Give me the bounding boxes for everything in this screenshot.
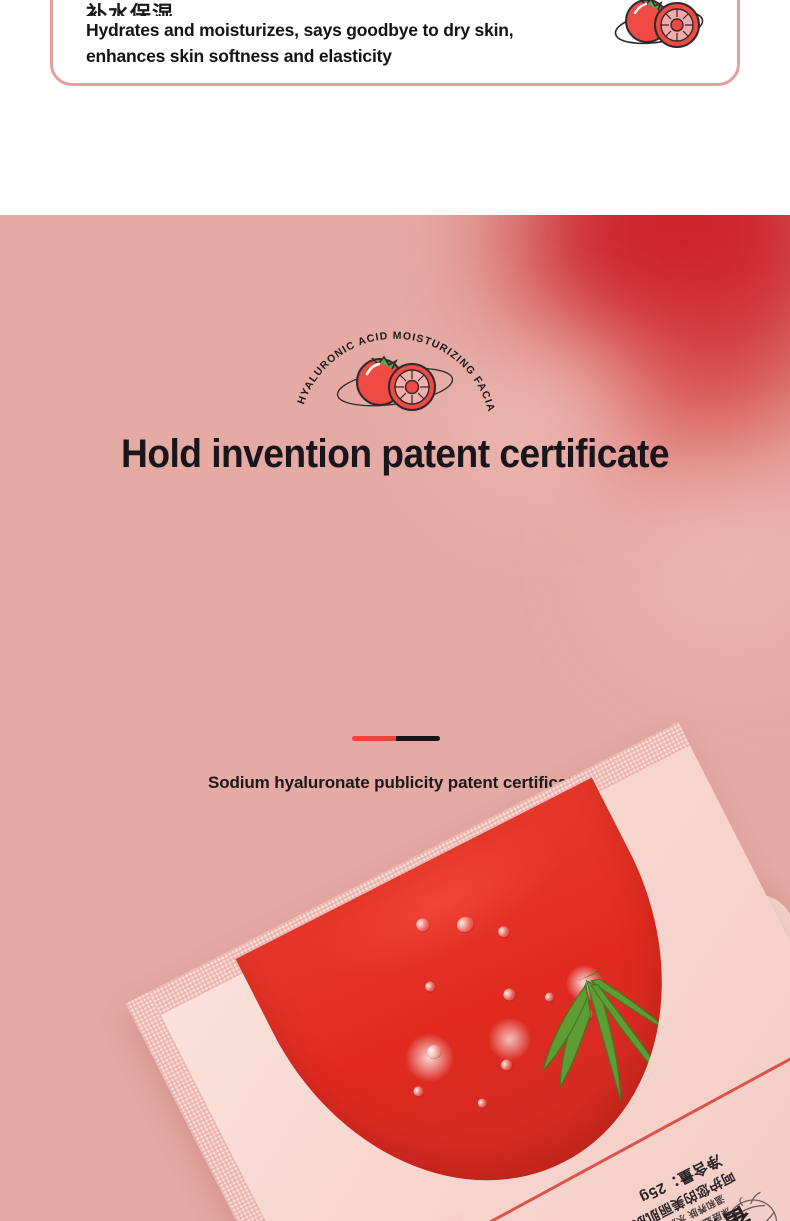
benefit-headline-cn: 补水保湿 bbox=[86, 3, 587, 16]
tomato-logo-icon: TOMATO HYALURONIC ACID MOISTURIZING FACI… bbox=[290, 325, 500, 415]
page-title: Hold invention patent certificate bbox=[28, 432, 763, 477]
benefit-text-block: 补水保湿 Hydrates and moisturizes, says good… bbox=[86, 3, 587, 68]
tomato-calyx bbox=[498, 931, 742, 1164]
tomato-cross-section-photo bbox=[272, 1213, 554, 1221]
product-photo: 净含量：25g 呵护您的美丽肌肤 温和养肤 水润嫩肌 肌肤澄净透亮 深层滋养 水… bbox=[0, 645, 790, 1221]
brand-logo: TOMATO HYALURONIC ACID MOISTURIZING FACI… bbox=[0, 325, 790, 415]
benefit-card: 补水保湿 Hydrates and moisturizes, says good… bbox=[50, 0, 740, 86]
product-detail-page: 补水保湿 Hydrates and moisturizes, says good… bbox=[0, 0, 790, 1221]
mask-packet: 净含量：25g 呵护您的美丽肌肤 温和养肤 水润嫩肌 肌肤澄净透亮 深层滋养 水… bbox=[126, 722, 790, 1221]
tomato-doodle-icon bbox=[611, 0, 707, 51]
soft-highlight-lower bbox=[630, 465, 790, 645]
benefit-headline-en-line1: Hydrates and moisturizes, says goodbye t… bbox=[86, 19, 587, 42]
tomato-photo-inverted bbox=[235, 777, 741, 1221]
hero-section: TOMATO HYALURONIC ACID MOISTURIZING FACI… bbox=[0, 215, 790, 1221]
benefit-headline-en-line2: enhances skin softness and elasticity bbox=[86, 45, 587, 68]
